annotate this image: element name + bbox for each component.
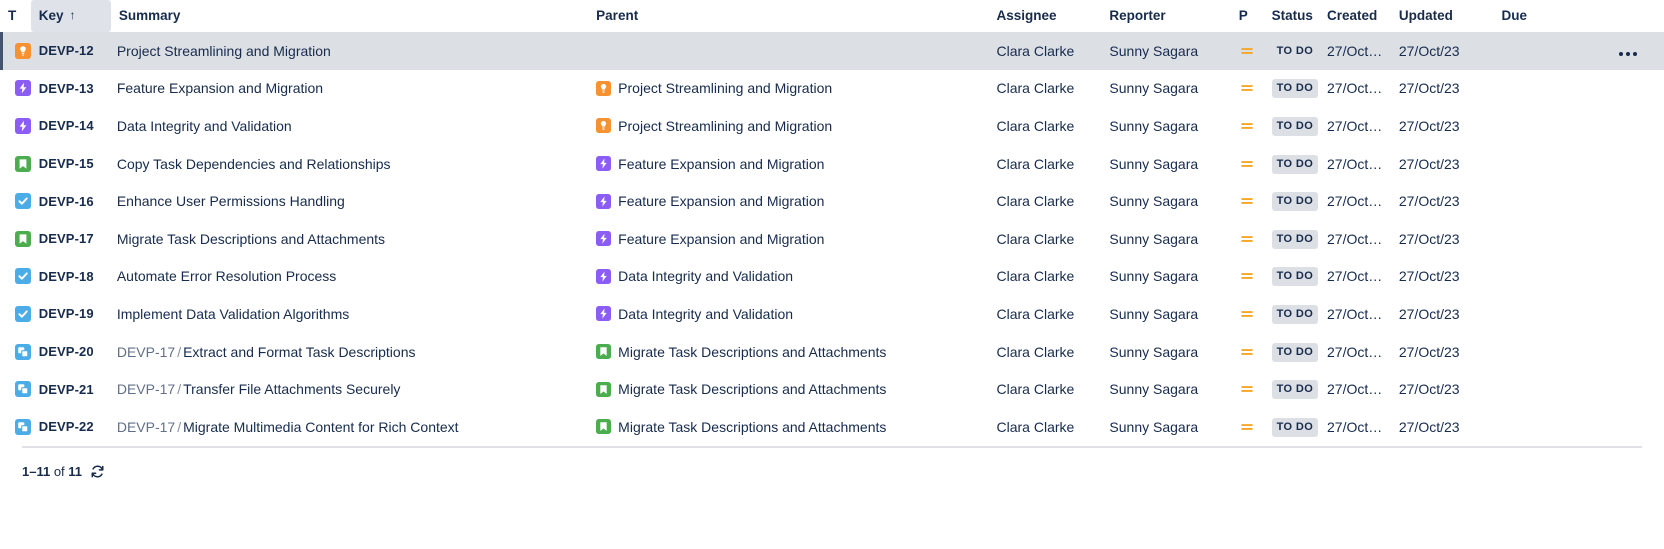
pagination-count: 1–11 of 11 <box>22 464 82 479</box>
status-badge: TO DO <box>1272 155 1319 174</box>
status-cell[interactable]: TO DO <box>1264 370 1319 408</box>
issue-parent-link[interactable]: Data Integrity and Validation <box>588 258 988 296</box>
pagination-total: 11 <box>68 464 82 479</box>
parent-link-text: Data Integrity and Validation <box>618 268 793 284</box>
column-header-type-label: T <box>8 8 16 23</box>
status-badge: TO DO <box>1272 79 1319 98</box>
updated-date-cell: 27/Oct/23 <box>1391 295 1494 333</box>
issue-parent-link[interactable]: Data Integrity and Validation <box>588 295 988 333</box>
row-actions-cell <box>1561 70 1664 108</box>
column-header-priority[interactable]: P <box>1231 0 1264 32</box>
created-date-cell: 27/Oct/23 <box>1319 145 1391 183</box>
priority-cell[interactable] <box>1231 182 1264 220</box>
epic-icon <box>596 194 611 209</box>
subtask-icon <box>15 381 31 397</box>
summary-text: Implement Data Validation Algorithms <box>117 306 349 322</box>
status-badge: TO DO <box>1272 380 1319 399</box>
created-date-cell: 27/Oct/23 <box>1319 258 1391 296</box>
reporter-cell[interactable]: Sunny Sagara <box>1101 220 1230 258</box>
table-body: DEVP-12Project Streamlining and Migratio… <box>0 32 1664 446</box>
pagination-of-label: of <box>54 464 65 479</box>
column-header-actions <box>1561 0 1664 32</box>
due-date-cell <box>1494 333 1562 371</box>
issue-key-link[interactable]: DEVP-18 <box>31 258 111 296</box>
summary-parent-key: DEVP-17 <box>117 381 175 397</box>
priority-medium-icon <box>1239 268 1255 284</box>
row-actions-cell <box>1561 220 1664 258</box>
status-cell[interactable]: TO DO <box>1264 258 1319 296</box>
issue-summary-link[interactable]: Data Integrity and Validation <box>111 107 588 145</box>
status-cell[interactable]: TO DO <box>1264 408 1319 446</box>
summary-separator: / <box>175 344 183 360</box>
created-date-cell: 27/Oct/23 <box>1319 70 1391 108</box>
issue-parent-link[interactable]: Migrate Task Descriptions and Attachment… <box>588 333 988 371</box>
story-icon <box>596 344 611 359</box>
status-badge: TO DO <box>1272 42 1319 61</box>
assignee-cell[interactable]: Clara Clarke <box>989 333 1102 371</box>
priority-medium-icon <box>1239 118 1255 134</box>
issue-key-link[interactable]: DEVP-15 <box>31 145 111 183</box>
table-row[interactable]: DEVP-13Feature Expansion and MigrationPr… <box>0 70 1664 108</box>
epic-icon <box>596 156 611 171</box>
issue-key-link[interactable]: DEVP-16 <box>31 182 111 220</box>
parent-link-text: Feature Expansion and Migration <box>618 156 824 172</box>
epic-icon <box>596 269 611 284</box>
status-cell[interactable]: TO DO <box>1264 220 1319 258</box>
assignee-cell[interactable]: Clara Clarke <box>989 408 1102 446</box>
table-footer: 1–11 of 11 <box>0 448 1664 479</box>
summary-text: Migrate Multimedia Content for Rich Cont… <box>183 419 458 435</box>
issue-type-cell[interactable] <box>0 182 31 220</box>
assignee-cell[interactable]: Clara Clarke <box>989 258 1102 296</box>
idea-icon <box>596 118 611 133</box>
priority-medium-icon <box>1239 306 1255 322</box>
status-cell[interactable]: TO DO <box>1264 295 1319 333</box>
issue-type-cell[interactable] <box>0 220 31 258</box>
summary-separator: / <box>175 381 183 397</box>
issue-key-link[interactable]: DEVP-13 <box>31 70 111 108</box>
status-badge: TO DO <box>1272 305 1319 324</box>
parent-link-text: Migrate Task Descriptions and Attachment… <box>618 344 886 360</box>
assignee-cell[interactable]: Clara Clarke <box>989 182 1102 220</box>
priority-cell[interactable] <box>1231 408 1264 446</box>
reporter-cell[interactable]: Sunny Sagara <box>1101 107 1230 145</box>
priority-cell[interactable] <box>1231 32 1264 70</box>
table-row[interactable]: DEVP-22DEVP-17/Migrate Multimedia Conten… <box>0 408 1664 446</box>
task-icon <box>15 268 31 284</box>
table-row[interactable]: DEVP-18Automate Error Resolution Process… <box>0 258 1664 296</box>
issue-parent-link[interactable]: Feature Expansion and Migration <box>588 182 988 220</box>
issue-summary-link[interactable]: Implement Data Validation Algorithms <box>111 295 588 333</box>
status-badge: TO DO <box>1272 267 1319 286</box>
summary-separator: / <box>175 419 183 435</box>
table-header: T Key↑ Summary Parent Assignee Reporter … <box>0 0 1664 32</box>
epic-icon <box>596 231 611 246</box>
reporter-cell[interactable]: Sunny Sagara <box>1101 70 1230 108</box>
task-icon <box>15 306 31 322</box>
story-icon <box>596 382 611 397</box>
updated-date-cell: 27/Oct/23 <box>1391 220 1494 258</box>
status-badge: TO DO <box>1272 418 1319 437</box>
parent-link-text: Project Streamlining and Migration <box>618 118 832 134</box>
reporter-cell[interactable]: Sunny Sagara <box>1101 370 1230 408</box>
table-row[interactable]: DEVP-12Project Streamlining and Migratio… <box>0 32 1664 70</box>
status-cell[interactable]: TO DO <box>1264 70 1319 108</box>
reporter-cell[interactable]: Sunny Sagara <box>1101 182 1230 220</box>
parent-link-text: Migrate Task Descriptions and Attachment… <box>618 381 886 397</box>
issue-parent-link[interactable]: Migrate Task Descriptions and Attachment… <box>588 370 988 408</box>
column-header-due[interactable]: Due <box>1494 0 1562 32</box>
issue-parent-link[interactable]: Project Streamlining and Migration <box>588 107 988 145</box>
refresh-icon[interactable] <box>90 464 105 479</box>
issue-parent-link[interactable]: Project Streamlining and Migration <box>588 70 988 108</box>
issue-type-cell[interactable] <box>0 408 31 446</box>
row-actions-cell <box>1561 408 1664 446</box>
updated-date-cell: 27/Oct/23 <box>1391 107 1494 145</box>
issue-list-table: T Key↑ Summary Parent Assignee Reporter … <box>0 0 1664 446</box>
issue-type-cell[interactable] <box>0 295 31 333</box>
issue-summary-link[interactable]: DEVP-17/Migrate Multimedia Content for R… <box>111 408 588 446</box>
priority-cell[interactable] <box>1231 258 1264 296</box>
row-actions-cell <box>1561 145 1664 183</box>
reporter-cell[interactable]: Sunny Sagara <box>1101 145 1230 183</box>
created-date-cell: 27/Oct/23 <box>1319 295 1391 333</box>
parent-link-text: Migrate Task Descriptions and Attachment… <box>618 419 886 435</box>
reporter-cell[interactable]: Sunny Sagara <box>1101 295 1230 333</box>
reporter-cell[interactable]: Sunny Sagara <box>1101 408 1230 446</box>
due-date-cell <box>1494 145 1562 183</box>
due-date-cell <box>1494 295 1562 333</box>
summary-text: Feature Expansion and Migration <box>117 80 323 96</box>
issue-type-cell[interactable] <box>0 32 31 70</box>
updated-date-cell: 27/Oct/23 <box>1391 70 1494 108</box>
updated-date-cell: 27/Oct/23 <box>1391 370 1494 408</box>
issue-type-cell[interactable] <box>0 145 31 183</box>
column-header-priority-label: P <box>1239 8 1248 23</box>
summary-text: Migrate Task Descriptions and Attachment… <box>117 231 385 247</box>
due-date-cell <box>1494 32 1562 70</box>
table-row[interactable]: DEVP-14Data Integrity and ValidationProj… <box>0 107 1664 145</box>
column-header-reporter-label: Reporter <box>1109 8 1165 23</box>
due-date-cell <box>1494 258 1562 296</box>
table-row[interactable]: DEVP-21DEVP-17/Transfer File Attachments… <box>0 370 1664 408</box>
issue-type-cell[interactable] <box>0 70 31 108</box>
priority-cell[interactable] <box>1231 145 1264 183</box>
parent-link-text: Feature Expansion and Migration <box>618 231 824 247</box>
created-date-cell: 27/Oct/23 <box>1319 220 1391 258</box>
column-header-key-label: Key <box>39 8 64 23</box>
story-icon <box>15 156 31 172</box>
updated-date-cell: 27/Oct/23 <box>1391 408 1494 446</box>
updated-date-cell: 27/Oct/23 <box>1391 145 1494 183</box>
priority-medium-icon <box>1239 80 1255 96</box>
issue-summary-link[interactable]: Migrate Task Descriptions and Attachment… <box>111 220 588 258</box>
issue-parent-link[interactable] <box>588 32 988 70</box>
idea-icon <box>596 81 611 96</box>
table-row[interactable]: DEVP-19Implement Data Validation Algorit… <box>0 295 1664 333</box>
assignee-cell[interactable]: Clara Clarke <box>989 107 1102 145</box>
due-date-cell <box>1494 182 1562 220</box>
due-date-cell <box>1494 220 1562 258</box>
updated-date-cell: 27/Oct/23 <box>1391 258 1494 296</box>
table-row[interactable]: DEVP-20DEVP-17/Extract and Format Task D… <box>0 333 1664 371</box>
column-header-status[interactable]: Status <box>1264 0 1319 32</box>
priority-medium-icon <box>1239 156 1255 172</box>
summary-parent-key: DEVP-17 <box>117 419 175 435</box>
status-cell[interactable]: TO DO <box>1264 107 1319 145</box>
issue-summary-link[interactable]: Automate Error Resolution Process <box>111 258 588 296</box>
issue-key-link[interactable]: DEVP-22 <box>31 408 111 446</box>
issue-summary-link[interactable]: Enhance User Permissions Handling <box>111 182 588 220</box>
priority-cell[interactable] <box>1231 333 1264 371</box>
summary-text: Automate Error Resolution Process <box>117 268 336 284</box>
issue-key-link[interactable]: DEVP-14 <box>31 107 111 145</box>
created-date-cell: 27/Oct/23 <box>1319 107 1391 145</box>
column-header-parent[interactable]: Parent <box>588 0 988 32</box>
column-header-parent-label: Parent <box>596 8 638 23</box>
due-date-cell <box>1494 408 1562 446</box>
updated-date-cell: 27/Oct/23 <box>1391 182 1494 220</box>
summary-text: Transfer File Attachments Securely <box>183 381 400 397</box>
reporter-cell[interactable]: Sunny Sagara <box>1101 258 1230 296</box>
issue-summary-link[interactable]: Feature Expansion and Migration <box>111 70 588 108</box>
issue-type-cell[interactable] <box>0 333 31 371</box>
status-cell[interactable]: TO DO <box>1264 333 1319 371</box>
priority-medium-icon <box>1239 193 1255 209</box>
priority-medium-icon <box>1239 419 1255 435</box>
pagination-range: 1–11 <box>22 464 50 479</box>
priority-medium-icon <box>1239 344 1255 360</box>
updated-date-cell: 27/Oct/23 <box>1391 32 1494 70</box>
parent-link-text: Project Streamlining and Migration <box>618 80 832 96</box>
issue-key-link[interactable]: DEVP-17 <box>31 220 111 258</box>
due-date-cell <box>1494 370 1562 408</box>
issue-type-cell[interactable] <box>0 258 31 296</box>
issue-summary-link[interactable]: Copy Task Dependencies and Relationships <box>111 145 588 183</box>
row-actions-cell <box>1561 182 1664 220</box>
priority-medium-icon <box>1239 381 1255 397</box>
issue-table-container: T Key↑ Summary Parent Assignee Reporter … <box>0 0 1664 479</box>
priority-cell[interactable] <box>1231 295 1264 333</box>
subtask-icon <box>15 344 31 360</box>
idea-icon <box>15 43 31 59</box>
assignee-cell[interactable]: Clara Clarke <box>989 370 1102 408</box>
priority-cell[interactable] <box>1231 370 1264 408</box>
row-more-actions-button[interactable] <box>1617 51 1638 56</box>
story-icon <box>596 419 611 434</box>
column-header-reporter[interactable]: Reporter <box>1101 0 1230 32</box>
created-date-cell: 27/Oct/23 <box>1319 333 1391 371</box>
summary-text: Copy Task Dependencies and Relationships <box>117 156 391 172</box>
assignee-cell[interactable]: Clara Clarke <box>989 70 1102 108</box>
status-cell[interactable]: TO DO <box>1264 182 1319 220</box>
issue-type-cell[interactable] <box>0 107 31 145</box>
issue-key-link[interactable]: DEVP-12 <box>31 32 111 70</box>
updated-date-cell: 27/Oct/23 <box>1391 333 1494 371</box>
created-date-cell: 27/Oct/23 <box>1319 32 1391 70</box>
issue-parent-link[interactable]: Feature Expansion and Migration <box>588 220 988 258</box>
epic-icon <box>15 80 31 96</box>
summary-text: Extract and Format Task Descriptions <box>183 344 415 360</box>
table-row[interactable]: DEVP-15Copy Task Dependencies and Relati… <box>0 145 1664 183</box>
column-header-status-label: Status <box>1272 8 1313 23</box>
reporter-cell[interactable]: Sunny Sagara <box>1101 32 1230 70</box>
issue-parent-link[interactable]: Feature Expansion and Migration <box>588 145 988 183</box>
issue-key-link[interactable]: DEVP-20 <box>31 333 111 371</box>
due-date-cell <box>1494 107 1562 145</box>
issue-type-cell[interactable] <box>0 370 31 408</box>
created-date-cell: 27/Oct/23 <box>1319 182 1391 220</box>
status-cell[interactable]: TO DO <box>1264 145 1319 183</box>
parent-link-text: Feature Expansion and Migration <box>618 193 824 209</box>
header-row: T Key↑ Summary Parent Assignee Reporter … <box>0 0 1664 32</box>
reporter-cell[interactable]: Sunny Sagara <box>1101 333 1230 371</box>
row-actions-cell <box>1561 370 1664 408</box>
epic-icon <box>596 306 611 321</box>
summary-parent-key: DEVP-17 <box>117 344 175 360</box>
column-header-summary-label: Summary <box>119 8 181 23</box>
status-cell[interactable]: TO DO <box>1264 32 1319 70</box>
column-header-created[interactable]: Created <box>1319 0 1391 32</box>
story-icon <box>15 231 31 247</box>
issue-summary-link[interactable]: Project Streamlining and Migration <box>111 32 588 70</box>
table-row[interactable]: DEVP-17Migrate Task Descriptions and Att… <box>0 220 1664 258</box>
column-header-key[interactable]: Key↑ <box>31 0 111 32</box>
row-actions-cell <box>1561 333 1664 371</box>
priority-medium-icon <box>1239 43 1255 59</box>
column-header-updated-label: Updated <box>1399 8 1453 23</box>
status-badge: TO DO <box>1272 230 1319 249</box>
row-actions-cell <box>1561 32 1664 70</box>
row-actions-cell <box>1561 295 1664 333</box>
priority-medium-icon <box>1239 231 1255 247</box>
issue-parent-link[interactable]: Migrate Task Descriptions and Attachment… <box>588 408 988 446</box>
column-header-summary[interactable]: Summary <box>111 0 588 32</box>
subtask-icon <box>15 419 31 435</box>
epic-icon <box>15 118 31 134</box>
status-badge: TO DO <box>1272 192 1319 211</box>
column-header-due-label: Due <box>1502 8 1528 23</box>
column-header-updated[interactable]: Updated <box>1391 0 1494 32</box>
priority-cell[interactable] <box>1231 220 1264 258</box>
assignee-cell[interactable]: Clara Clarke <box>989 145 1102 183</box>
summary-text: Project Streamlining and Migration <box>117 43 331 59</box>
issue-key-link[interactable]: DEVP-19 <box>31 295 111 333</box>
sort-ascending-icon: ↑ <box>70 8 76 22</box>
task-icon <box>15 193 31 209</box>
issue-summary-link[interactable]: DEVP-17/Transfer File Attachments Secure… <box>111 370 588 408</box>
summary-text: Data Integrity and Validation <box>117 118 292 134</box>
table-row[interactable]: DEVP-16Enhance User Permissions Handling… <box>0 182 1664 220</box>
column-header-assignee-label: Assignee <box>997 8 1057 23</box>
assignee-cell[interactable]: Clara Clarke <box>989 220 1102 258</box>
row-actions-cell <box>1561 258 1664 296</box>
priority-cell[interactable] <box>1231 107 1264 145</box>
assignee-cell[interactable]: Clara Clarke <box>989 32 1102 70</box>
summary-text: Enhance User Permissions Handling <box>117 193 345 209</box>
row-actions-cell <box>1561 107 1664 145</box>
status-badge: TO DO <box>1272 343 1319 362</box>
created-date-cell: 27/Oct/23 <box>1319 370 1391 408</box>
column-header-assignee[interactable]: Assignee <box>989 0 1102 32</box>
due-date-cell <box>1494 70 1562 108</box>
status-badge: TO DO <box>1272 117 1319 136</box>
created-date-cell: 27/Oct/23 <box>1319 408 1391 446</box>
column-header-created-label: Created <box>1327 8 1377 23</box>
column-header-type[interactable]: T <box>0 0 31 32</box>
assignee-cell[interactable]: Clara Clarke <box>989 295 1102 333</box>
issue-summary-link[interactable]: DEVP-17/Extract and Format Task Descript… <box>111 333 588 371</box>
parent-link-text: Data Integrity and Validation <box>618 306 793 322</box>
priority-cell[interactable] <box>1231 70 1264 108</box>
issue-key-link[interactable]: DEVP-21 <box>31 370 111 408</box>
